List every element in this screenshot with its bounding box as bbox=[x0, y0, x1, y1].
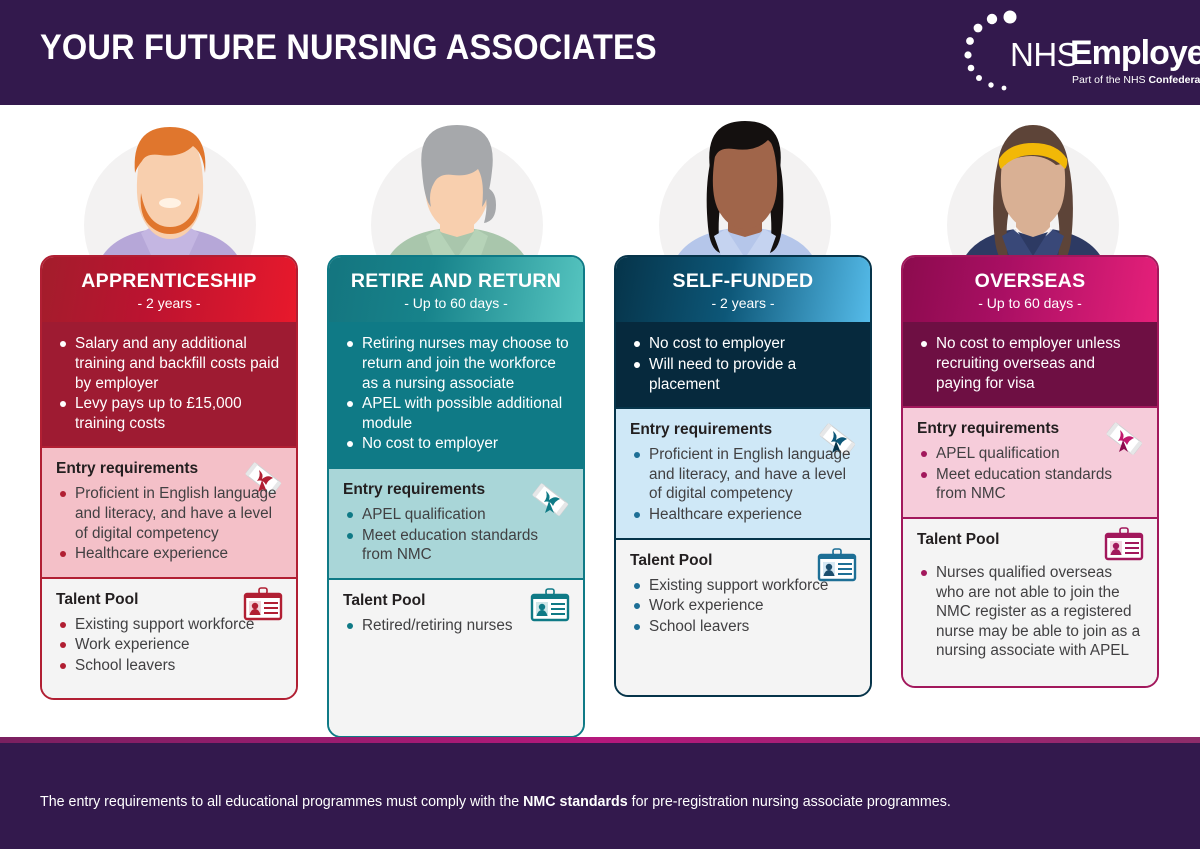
list-item: School leavers bbox=[56, 656, 282, 676]
card-title: RETIRE AND RETURN bbox=[339, 271, 573, 291]
entry-bullet-list: Proficient in English language and liter… bbox=[630, 445, 856, 524]
entry-bullet-list: Proficient in English language and liter… bbox=[56, 484, 282, 563]
list-item: No cost to employer bbox=[343, 434, 569, 454]
list-item: Salary and any additional training and b… bbox=[56, 334, 282, 393]
list-item: APEL qualification bbox=[343, 505, 569, 525]
logo-nhs-text: NHS bbox=[1010, 38, 1078, 71]
list-item: Nurses qualified overseas who are not ab… bbox=[917, 563, 1143, 661]
card-header-self-funded: SELF-FUNDED - 2 years - bbox=[616, 257, 870, 322]
card-apprenticeship[interactable]: APPRENTICESHIP - 2 years - Salary and an… bbox=[40, 255, 298, 700]
list-item: Retiring nurses may choose to return and… bbox=[343, 334, 569, 393]
card-retire-and-return[interactable]: RETIRE AND RETURN - Up to 60 days - Reti… bbox=[327, 255, 585, 738]
list-item: Meet education standards from NMC bbox=[917, 465, 1143, 504]
list-item: Existing support workforce bbox=[630, 576, 856, 596]
list-item: Work experience bbox=[56, 635, 282, 655]
list-item: Work experience bbox=[630, 596, 856, 616]
list-item: Meet education standards from NMC bbox=[343, 526, 569, 565]
footer-text-nmc-standards: NMC standards bbox=[523, 793, 628, 810]
card-duration: - 2 years - bbox=[626, 295, 860, 311]
person-illustration-overseas bbox=[928, 115, 1138, 275]
list-item: No cost to employer unless recruiting ov… bbox=[917, 334, 1143, 393]
list-item: Existing support workforce bbox=[56, 615, 282, 635]
footer-text-after: for pre-registration nursing associate p… bbox=[628, 793, 951, 810]
infographic-page: YOUR FUTURE NURSING ASSOCIATES NHS Emplo… bbox=[0, 0, 1200, 849]
list-item: Levy pays up to £15,000 training costs bbox=[56, 394, 282, 433]
list-item: School leavers bbox=[630, 617, 856, 637]
list-item: Retired/retiring nurses bbox=[343, 616, 569, 636]
card-main-section: No cost to employer unless recruiting ov… bbox=[903, 322, 1157, 406]
main-bullet-list: Retiring nurses may choose to return and… bbox=[343, 334, 569, 453]
logo-subtitle-prefix: Part of the NHS bbox=[1072, 74, 1148, 86]
card-header-retire-and-return: RETIRE AND RETURN - Up to 60 days - bbox=[329, 257, 583, 322]
logo-subtitle: Part of the NHS Confederation bbox=[1072, 74, 1200, 86]
card-header-overseas: OVERSEAS - Up to 60 days - bbox=[903, 257, 1157, 322]
person-illustration-apprenticeship bbox=[65, 115, 275, 275]
list-item: Proficient in English language and liter… bbox=[56, 484, 282, 543]
list-item: APEL qualification bbox=[917, 444, 1143, 464]
list-item: Healthcare experience bbox=[56, 544, 282, 564]
entry-requirements-section: Entry requirements Proficient in English… bbox=[616, 409, 870, 537]
id-card-icon bbox=[1103, 527, 1145, 567]
talent-bullet-list: Nurses qualified overseas who are not ab… bbox=[917, 563, 1143, 661]
logo-subtitle-bold: Confederation bbox=[1148, 74, 1200, 86]
main-bullet-list: Salary and any additional training and b… bbox=[56, 334, 282, 433]
card-duration: - 2 years - bbox=[52, 295, 286, 311]
talent-pool-section: Talent Pool Nurses qualified overseas wh… bbox=[903, 519, 1157, 686]
card-title: OVERSEAS bbox=[913, 271, 1147, 291]
list-item: Healthcare experience bbox=[630, 505, 856, 525]
nhs-employers-logo: NHS Employers Part of the NHS Confederat… bbox=[954, 10, 1164, 94]
talent-bullet-list: Existing support workforce Work experien… bbox=[56, 615, 282, 676]
entry-bullet-list: APEL qualification Meet education standa… bbox=[917, 444, 1143, 504]
talent-pool-section: Talent Pool Existing support workforce W… bbox=[42, 579, 296, 699]
card-duration: - Up to 60 days - bbox=[339, 295, 573, 311]
list-item: APEL with possible additional module bbox=[343, 394, 569, 433]
page-header: YOUR FUTURE NURSING ASSOCIATES NHS Emplo… bbox=[0, 0, 1200, 105]
card-main-section: Salary and any additional training and b… bbox=[42, 322, 296, 446]
card-header-apprenticeship: APPRENTICESHIP - 2 years - bbox=[42, 257, 296, 322]
card-title: SELF-FUNDED bbox=[626, 271, 860, 291]
card-overseas[interactable]: OVERSEAS - Up to 60 days - No cost to em… bbox=[901, 255, 1159, 688]
person-illustration-self-funded bbox=[640, 115, 850, 275]
page-footer: The entry requirements to all educationa… bbox=[0, 743, 1200, 849]
cards-area: APPRENTICESHIP - 2 years - Salary and an… bbox=[0, 105, 1200, 737]
list-item: Proficient in English language and liter… bbox=[630, 445, 856, 504]
entry-bullet-list: APEL qualification Meet education standa… bbox=[343, 505, 569, 565]
talent-bullet-list: Retired/retiring nurses bbox=[343, 616, 569, 636]
entry-requirements-section: Entry requirements APEL qualification Me… bbox=[903, 408, 1157, 517]
list-item: No cost to employer bbox=[630, 334, 856, 354]
list-item: Will need to provide a placement bbox=[630, 355, 856, 394]
card-main-section: Retiring nurses may choose to return and… bbox=[329, 322, 583, 466]
entry-requirements-section: Entry requirements APEL qualification Me… bbox=[329, 469, 583, 578]
footer-note: The entry requirements to all educationa… bbox=[40, 793, 951, 810]
card-title: APPRENTICESHIP bbox=[52, 271, 286, 291]
entry-requirements-section: Entry requirements Proficient in English… bbox=[42, 448, 296, 576]
talent-pool-section: Talent Pool Retired/retiring nurses bbox=[329, 580, 583, 737]
card-main-section: No cost to employer Will need to provide… bbox=[616, 322, 870, 407]
footer-text-before: The entry requirements to all educationa… bbox=[40, 793, 523, 810]
main-bullet-list: No cost to employer unless recruiting ov… bbox=[917, 334, 1143, 393]
talent-bullet-list: Existing support workforce Work experien… bbox=[630, 576, 856, 637]
logo-employers-text: Employers bbox=[1070, 36, 1200, 70]
card-self-funded[interactable]: SELF-FUNDED - 2 years - No cost to emplo… bbox=[614, 255, 872, 697]
main-bullet-list: No cost to employer Will need to provide… bbox=[630, 334, 856, 394]
page-title: YOUR FUTURE NURSING ASSOCIATES bbox=[40, 28, 657, 68]
card-duration: - Up to 60 days - bbox=[913, 295, 1147, 311]
talent-pool-section: Talent Pool Existing support workforce W… bbox=[616, 540, 870, 696]
person-illustration-retire-and-return bbox=[352, 115, 562, 275]
